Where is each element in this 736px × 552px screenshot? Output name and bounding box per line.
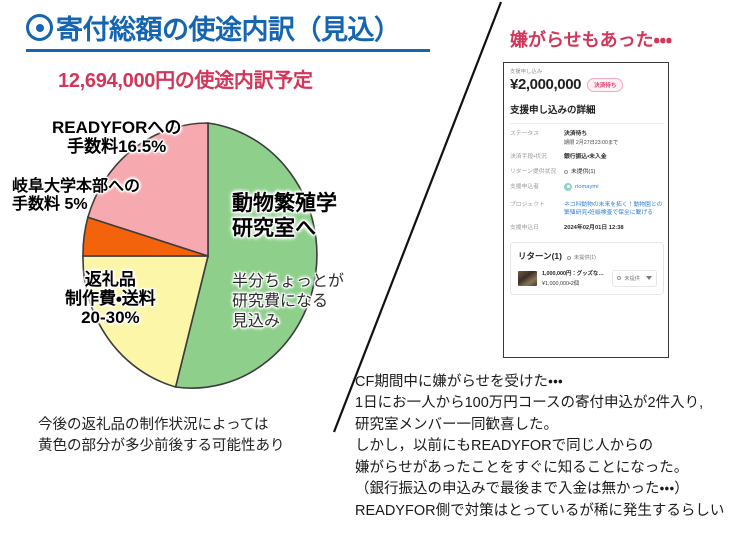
card-row-return-status-value: 未提供(1) — [564, 168, 595, 177]
pie-label-henrei: 返礼品 制作費・送料 20-30% — [65, 270, 156, 327]
pie-note: 今後の返礼品の制作状況によっては 黄色の部分が多少前後する可能性あり — [38, 415, 285, 457]
card-row-project: プロジェクト ネコ科動物の未来を拓く！動物園との繁殖研究・妊娠検査で保全に繋げる — [510, 201, 664, 218]
circle-mark-icon-3 — [617, 276, 621, 280]
pie-label-readyfor-line1: READYFORへの — [52, 118, 181, 137]
circle-mark-icon-2 — [567, 256, 571, 260]
return-section-state: 未提供(1) — [567, 254, 596, 261]
bullseye-icon — [26, 14, 53, 41]
card-row-status-key: ステータス — [510, 130, 564, 147]
pie-label-gifu: 岐阜大学本部への 手数料 5% — [12, 178, 140, 214]
avatar-icon — [564, 183, 572, 191]
return-item-state[interactable]: 未提供 — [612, 270, 657, 287]
status-badge: 決済待ち — [587, 78, 623, 92]
story-paragraph: CF期間中に嫌がらせを受けた・・・ 1日にお一人から100万円コースの寄付申込が… — [355, 372, 724, 522]
card-row-project-key: プロジェクト — [510, 201, 564, 218]
pie-label-lab-line1: 動物繁殖学 — [232, 192, 337, 217]
story-line-7: READYFOR側で対策はとっているが稀に発生するらしい — [355, 501, 724, 522]
card-row-payment: 決済手段・状況 銀行振込・未入金 — [510, 153, 664, 162]
card-amount-label: 支援申し込み — [510, 68, 664, 75]
pie-label-lab-sub-line3: 見込み — [232, 312, 344, 332]
story-line-1: CF期間中に嫌がらせを受けた・・・ — [355, 372, 724, 393]
return-section: リターン(1) 未提供(1) 1,000,000円：グッズなし… ¥1,000,… — [510, 242, 664, 295]
pie-slices — [83, 123, 317, 388]
pie-label-henrei-line3: 20-30% — [65, 308, 156, 327]
card-row-return-status-key: リターン提供状況 — [510, 168, 564, 177]
pie-label-henrei-line1: 返礼品 — [65, 270, 156, 289]
return-item-row[interactable]: 1,000,000円：グッズなし… ¥1,000,000・2個 未提供 — [518, 269, 657, 287]
pie-label-lab-sub-line1: 半分ちょっとが — [232, 272, 344, 292]
title-underline — [26, 49, 430, 52]
card-row-payment-key: 決済手段・状況 — [510, 153, 564, 162]
slide-root: 寄付総額の使途内訳（見込） 12,694,000円の使途内訳予定 READYFO… — [0, 0, 736, 552]
card-row-date-value: 2024年02月01日 12:38 — [564, 224, 624, 233]
card-row-date: 支援申込日 2024年02月01日 12:38 — [510, 224, 664, 233]
story-line-3: 研究室メンバー一同歓喜した。 — [355, 415, 724, 436]
card-amount-row: ¥2,000,000 決済待ち — [510, 76, 664, 93]
pie-label-henrei-line2: 制作費・送料 — [65, 289, 156, 308]
card-row-status: ステータス 決済待ち 期限 2月27日23:00まで — [510, 130, 664, 147]
card-row-return-status-text: 未提供(1) — [571, 169, 595, 175]
card-row-return-status: リターン提供状況 未提供(1) — [510, 168, 664, 177]
pie-label-lab-line2: 研究室へ — [232, 217, 337, 242]
story-line-6: （銀行振込の申込みで最後まで入金は無かった・・・） — [355, 479, 724, 500]
return-item-price: ¥1,000,000・2個 — [542, 279, 607, 287]
supporter-name[interactable]: riomaymi — [575, 183, 599, 192]
card-row-status-sub: 期限 2月27日23:00まで — [564, 140, 618, 148]
card-divider — [510, 123, 664, 124]
subtitle-text: 12,694,000円の使途内訳予定 — [58, 64, 313, 93]
pie-label-readyfor-line2: 手数料16.5% — [52, 137, 181, 156]
card-row-supporter-value: riomaymi — [564, 183, 599, 195]
chevron-down-icon[interactable] — [646, 276, 652, 280]
page-title: 寄付総額の使途内訳（見込） — [26, 8, 446, 52]
pie-label-gifu-line1: 岐阜大学本部への — [12, 178, 140, 196]
card-row-payment-value: 銀行振込・未入金 — [564, 153, 607, 162]
card-row-supporter-key: 支援申込者 — [510, 183, 564, 195]
card-row-date-key: 支援申込日 — [510, 224, 564, 233]
pie-label-readyfor: READYFORへの 手数料16.5% — [52, 118, 181, 156]
page-title-text: 寄付総額の使途内訳（見込） — [56, 8, 401, 47]
return-thumbnail — [518, 271, 537, 286]
card-row-status-main: 決済待ち — [564, 131, 587, 137]
story-line-4: しかし，以前にもREADYFORで同じ人からの — [355, 436, 724, 457]
pie-label-lab-sub-line2: 研究費になる — [232, 292, 344, 312]
project-link[interactable]: ネコ科動物の未来を拓く！動物園との繁殖研究・妊娠検査で保全に繋げる — [564, 201, 664, 218]
return-section-title: リターン(1) — [518, 250, 562, 262]
support-application-card: 支援申し込み ¥2,000,000 決済待ち 支援申し込みの詳細 ステータス 決… — [503, 62, 669, 358]
card-amount-value: ¥2,000,000 — [510, 76, 581, 93]
pie-label-lab-sub: 半分ちょっとが 研究費になる 見込み — [232, 272, 344, 332]
pie-note-line1: 今後の返礼品の制作状況によっては — [38, 415, 285, 436]
pie-note-line2: 黄色の部分が多少前後する可能性あり — [38, 436, 285, 457]
circle-mark-icon — [564, 170, 568, 174]
story-line-2: 1日にお一人から100万円コースの寄付申込が2件入り, — [355, 393, 724, 414]
return-item-title: 1,000,000円：グッズなし… — [542, 269, 607, 277]
card-section-title: 支援申し込みの詳細 — [510, 102, 664, 116]
card-row-status-value: 決済待ち 期限 2月27日23:00まで — [564, 130, 618, 147]
pie-label-lab: 動物繁殖学 研究室へ — [232, 192, 337, 242]
pie-label-gifu-line2: 手数料 5% — [12, 196, 140, 214]
story-line-5: 嫌がらせがあったことをすぐに知ることになった。 — [355, 458, 724, 479]
pie-chart — [82, 122, 334, 390]
right-heading: 嫌がらせもあった・・・ — [510, 26, 672, 52]
card-row-supporter: 支援申込者 riomaymi — [510, 183, 664, 195]
